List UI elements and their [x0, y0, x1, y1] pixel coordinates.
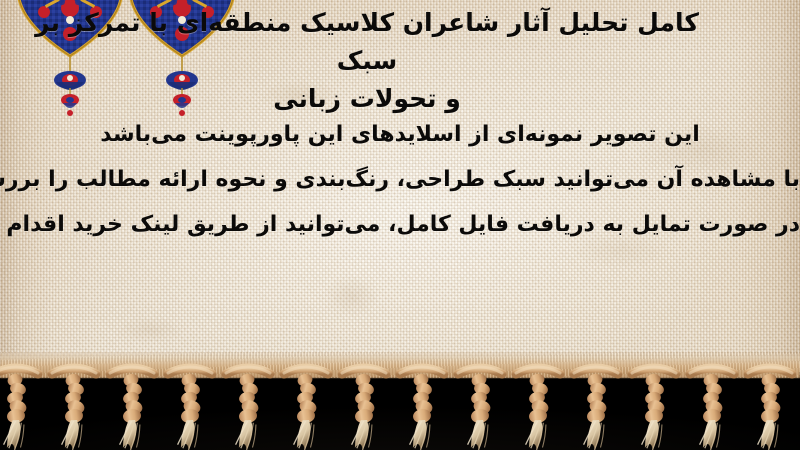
- slide-body-line-1: این تصویر نمونه‌ای از اسلایدهای این پاور…: [0, 112, 800, 157]
- carpet-woven-edge-texture: [0, 352, 800, 378]
- slide-title: کامل تحلیل آثار شاعران کلاسیک منطقه‌ای ب…: [12, 4, 782, 118]
- slide-body-line-3: در صورت تمایل به دریافت فایل کامل، می‌تو…: [0, 202, 800, 247]
- presentation-slide: کامل تحلیل آثار شاعران کلاسیک منطقه‌ای ب…: [0, 0, 800, 450]
- slide-body: این تصویر نمونه‌ای از اسلایدهای این پاور…: [0, 112, 800, 247]
- slide-body-line-2: با مشاهده آن می‌توانید سبک طراحی، رنگ‌بن…: [0, 157, 800, 202]
- slide-title-line-1: کامل تحلیل آثار شاعران کلاسیک منطقه‌ای ب…: [12, 4, 722, 80]
- slide-text-block: کامل تحلیل آثار شاعران کلاسیک منطقه‌ای ب…: [0, 0, 800, 372]
- carpet-black-border: [0, 372, 800, 450]
